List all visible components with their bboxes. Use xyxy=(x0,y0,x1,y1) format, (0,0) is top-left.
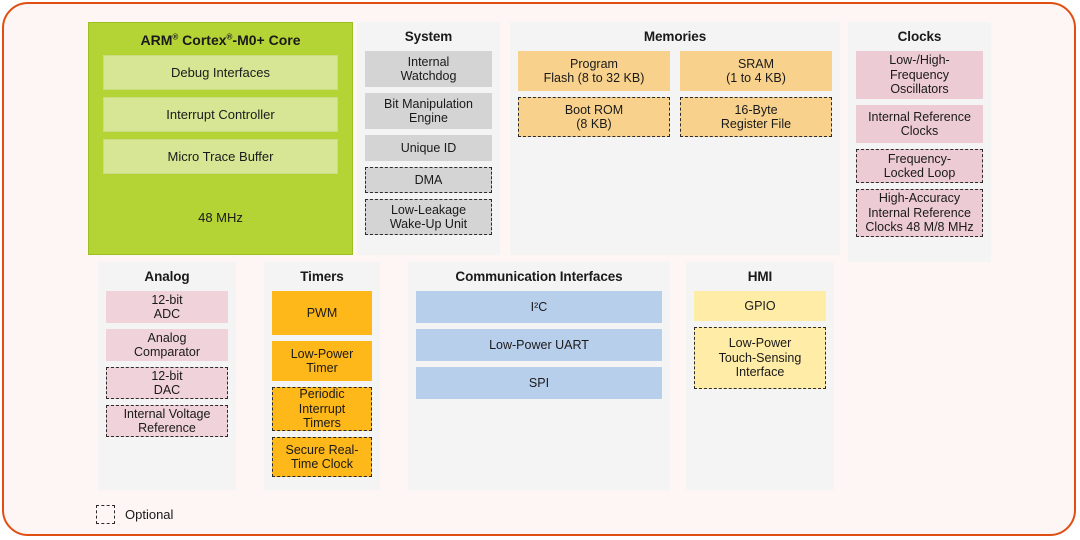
block-communication-i-c: I²C xyxy=(416,291,662,323)
group-title-system: System xyxy=(357,22,500,51)
diagram-canvas: ARM® Cortex®-M0+ Core Debug Interfaces I… xyxy=(0,0,1080,540)
group-title-hmi: HMI xyxy=(686,262,834,291)
block-system-dma: DMA xyxy=(365,167,492,193)
group-title-analog: Analog xyxy=(98,262,236,291)
block-timers-pwm: PWM xyxy=(272,291,372,335)
block-clocks-high-accuracy-internal-reference-clocks-: High-Accuracy Internal Reference Clocks … xyxy=(856,189,983,237)
block-memories-sram-1-to-4-kb: SRAM (1 to 4 KB) xyxy=(680,51,832,91)
block-hmi-gpio: GPIO xyxy=(694,291,826,321)
block-memories-16-byte-register-file: 16-Byte Register File xyxy=(680,97,832,137)
group-block-list-timers: PWMLow-Power TimerPeriodic Interrupt Tim… xyxy=(264,291,380,485)
group-block-list-clocks: Low-/High- Frequency OscillatorsInternal… xyxy=(848,51,991,245)
core-title: ARM® Cortex®-M0+ Core xyxy=(89,23,352,55)
legend: Optional xyxy=(96,505,173,524)
group-title-communication: Communication Interfaces xyxy=(408,262,670,291)
group-panel-hmi: HMIGPIOLow-Power Touch-Sensing Interface xyxy=(686,262,834,490)
block-communication-low-power-uart: Low-Power UART xyxy=(416,329,662,361)
legend-optional-label: Optional xyxy=(125,507,173,522)
group-title-timers: Timers xyxy=(264,262,380,291)
core-panel-arm-cortex-m0plus: ARM® Cortex®-M0+ Core Debug Interfaces I… xyxy=(88,22,353,255)
group-block-list-analog: 12-bit ADCAnalog Comparator12-bit DACInt… xyxy=(98,291,236,445)
group-block-list-memories: Program Flash (8 to 32 KB)SRAM (1 to 4 K… xyxy=(510,51,840,145)
block-timers-low-power-timer: Low-Power Timer xyxy=(272,341,372,381)
block-analog-internal-voltage-reference: Internal Voltage Reference xyxy=(106,405,228,437)
block-timers-secure-real-time-clock: Secure Real- Time Clock xyxy=(272,437,372,477)
core-title-cortex: Cortex xyxy=(178,32,226,48)
core-block-interrupt-controller: Interrupt Controller xyxy=(103,97,338,132)
core-frequency-label: 48 MHz xyxy=(89,210,352,225)
block-system-bit-manipulation-engine: Bit Manipulation Engine xyxy=(365,93,492,129)
block-system-low-leakage-wake-up-unit: Low-Leakage Wake-Up Unit xyxy=(365,199,492,235)
core-block-debug-interfaces: Debug Interfaces xyxy=(103,55,338,90)
block-communication-spi: SPI xyxy=(416,367,662,399)
core-block-list: Debug Interfaces Interrupt Controller Mi… xyxy=(89,55,352,174)
block-analog-12-bit-dac: 12-bit DAC xyxy=(106,367,228,399)
block-clocks-low-high-frequency-oscillators: Low-/High- Frequency Oscillators xyxy=(856,51,983,99)
group-block-list-system: Internal WatchdogBit Manipulation Engine… xyxy=(357,51,500,243)
group-panel-analog: Analog12-bit ADCAnalog Comparator12-bit … xyxy=(98,262,236,490)
block-hmi-low-power-touch-sensing-interface: Low-Power Touch-Sensing Interface xyxy=(694,327,826,389)
group-block-list-hmi: GPIOLow-Power Touch-Sensing Interface xyxy=(686,291,834,397)
group-panel-timers: TimersPWMLow-Power TimerPeriodic Interru… xyxy=(264,262,380,490)
block-analog-12-bit-adc: 12-bit ADC xyxy=(106,291,228,323)
group-block-list-communication: I²CLow-Power UARTSPI xyxy=(408,291,670,407)
block-timers-periodic-interrupt-timers: Periodic Interrupt Timers xyxy=(272,387,372,431)
group-panel-system: SystemInternal WatchdogBit Manipulation … xyxy=(357,22,500,255)
block-clocks-frequency-locked-loop: Frequency- Locked Loop xyxy=(856,149,983,183)
block-system-internal-watchdog: Internal Watchdog xyxy=(365,51,492,87)
core-title-arm: ARM xyxy=(140,32,172,48)
group-panel-memories: MemoriesProgram Flash (8 to 32 KB)SRAM (… xyxy=(510,22,840,255)
block-clocks-internal-reference-clocks: Internal Reference Clocks xyxy=(856,105,983,143)
group-panel-clocks: ClocksLow-/High- Frequency OscillatorsIn… xyxy=(848,22,991,262)
group-panel-communication: Communication InterfacesI²CLow-Power UAR… xyxy=(408,262,670,490)
group-title-clocks: Clocks xyxy=(848,22,991,51)
block-memories-boot-rom-8-kb: Boot ROM (8 KB) xyxy=(518,97,670,137)
core-block-micro-trace-buffer: Micro Trace Buffer xyxy=(103,139,338,174)
group-title-memories: Memories xyxy=(510,22,840,51)
optional-dashed-swatch-icon xyxy=(96,505,115,524)
core-title-model: -M0+ Core xyxy=(232,32,300,48)
block-memories-program-flash-8-to-32-kb: Program Flash (8 to 32 KB) xyxy=(518,51,670,91)
block-system-unique-id: Unique ID xyxy=(365,135,492,161)
block-analog-analog-comparator: Analog Comparator xyxy=(106,329,228,361)
